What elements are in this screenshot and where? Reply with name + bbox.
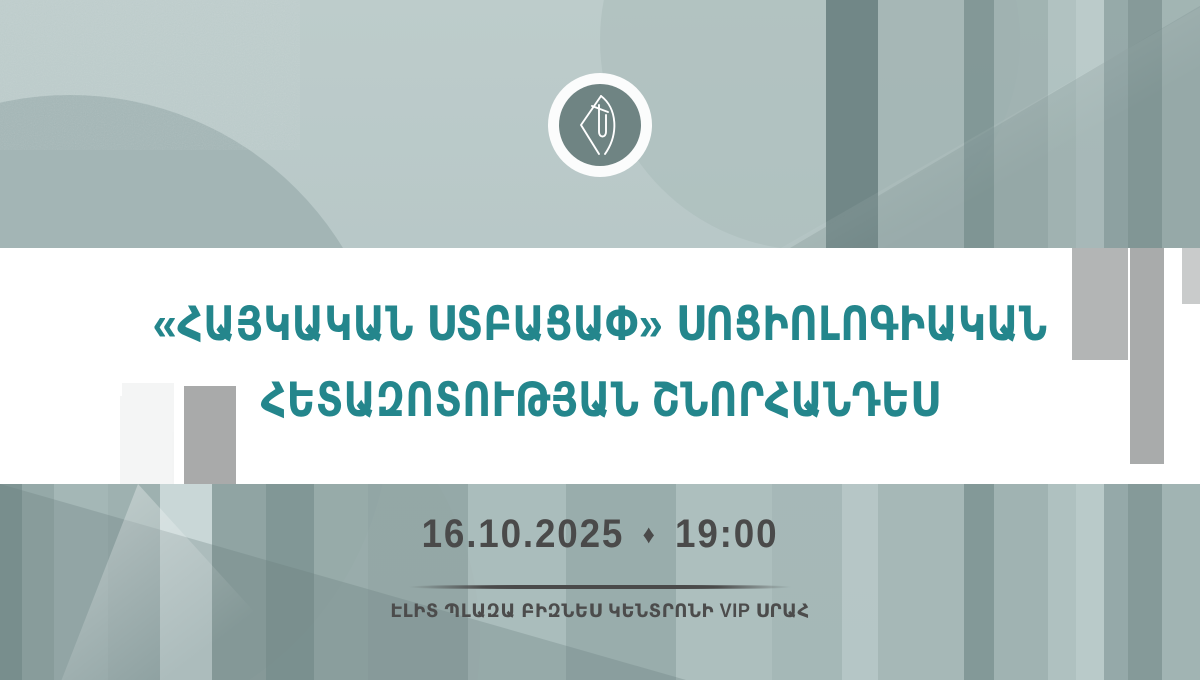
event-venue: ԷԼԻՏ ՊԼԱԶԱ ԲԻԶՆԵՍ ԿԵՆՏՐՈՆԻ VIP ՍՐԱՀ — [30, 600, 1170, 623]
logo — [548, 73, 652, 177]
event-date: 16.10.2025 — [422, 512, 625, 556]
event-time: 19:00 — [675, 512, 778, 556]
diamond-separator-icon: ♦ — [643, 519, 657, 550]
event-poster: «ՀԱՅԿԱԿԱՆ ՍՏԲԱՑԱՓ» ՍՈՑԻՈԼՈԳԻԱԿԱՆ ՀԵՏԱԶՈՏ… — [0, 0, 1200, 680]
band-bar-column — [120, 430, 172, 484]
divider — [408, 585, 792, 589]
title-line-2: ՀԵՏԱԶՈՏՈՒԹՅԱՆ ՇՆՈՐՀԱՆԴԵՍ — [42, 362, 1158, 438]
band-bar-column — [1182, 248, 1200, 304]
page-title: «ՀԱՅԿԱԿԱՆ ՍՏԲԱՑԱՓ» ՍՈՑԻՈԼՈԳԻԱԿԱՆ ՀԵՏԱԶՈՏ… — [42, 286, 1158, 438]
event-datetime: 16.10.2025♦19:00 — [48, 512, 1152, 557]
armenian-monogram-icon — [559, 84, 641, 166]
title-line-1: «ՀԱՅԿԱԿԱՆ ՍՏԲԱՑԱՓ» ՍՈՑԻՈԼՈԳԻԱԿԱՆ — [42, 286, 1158, 362]
